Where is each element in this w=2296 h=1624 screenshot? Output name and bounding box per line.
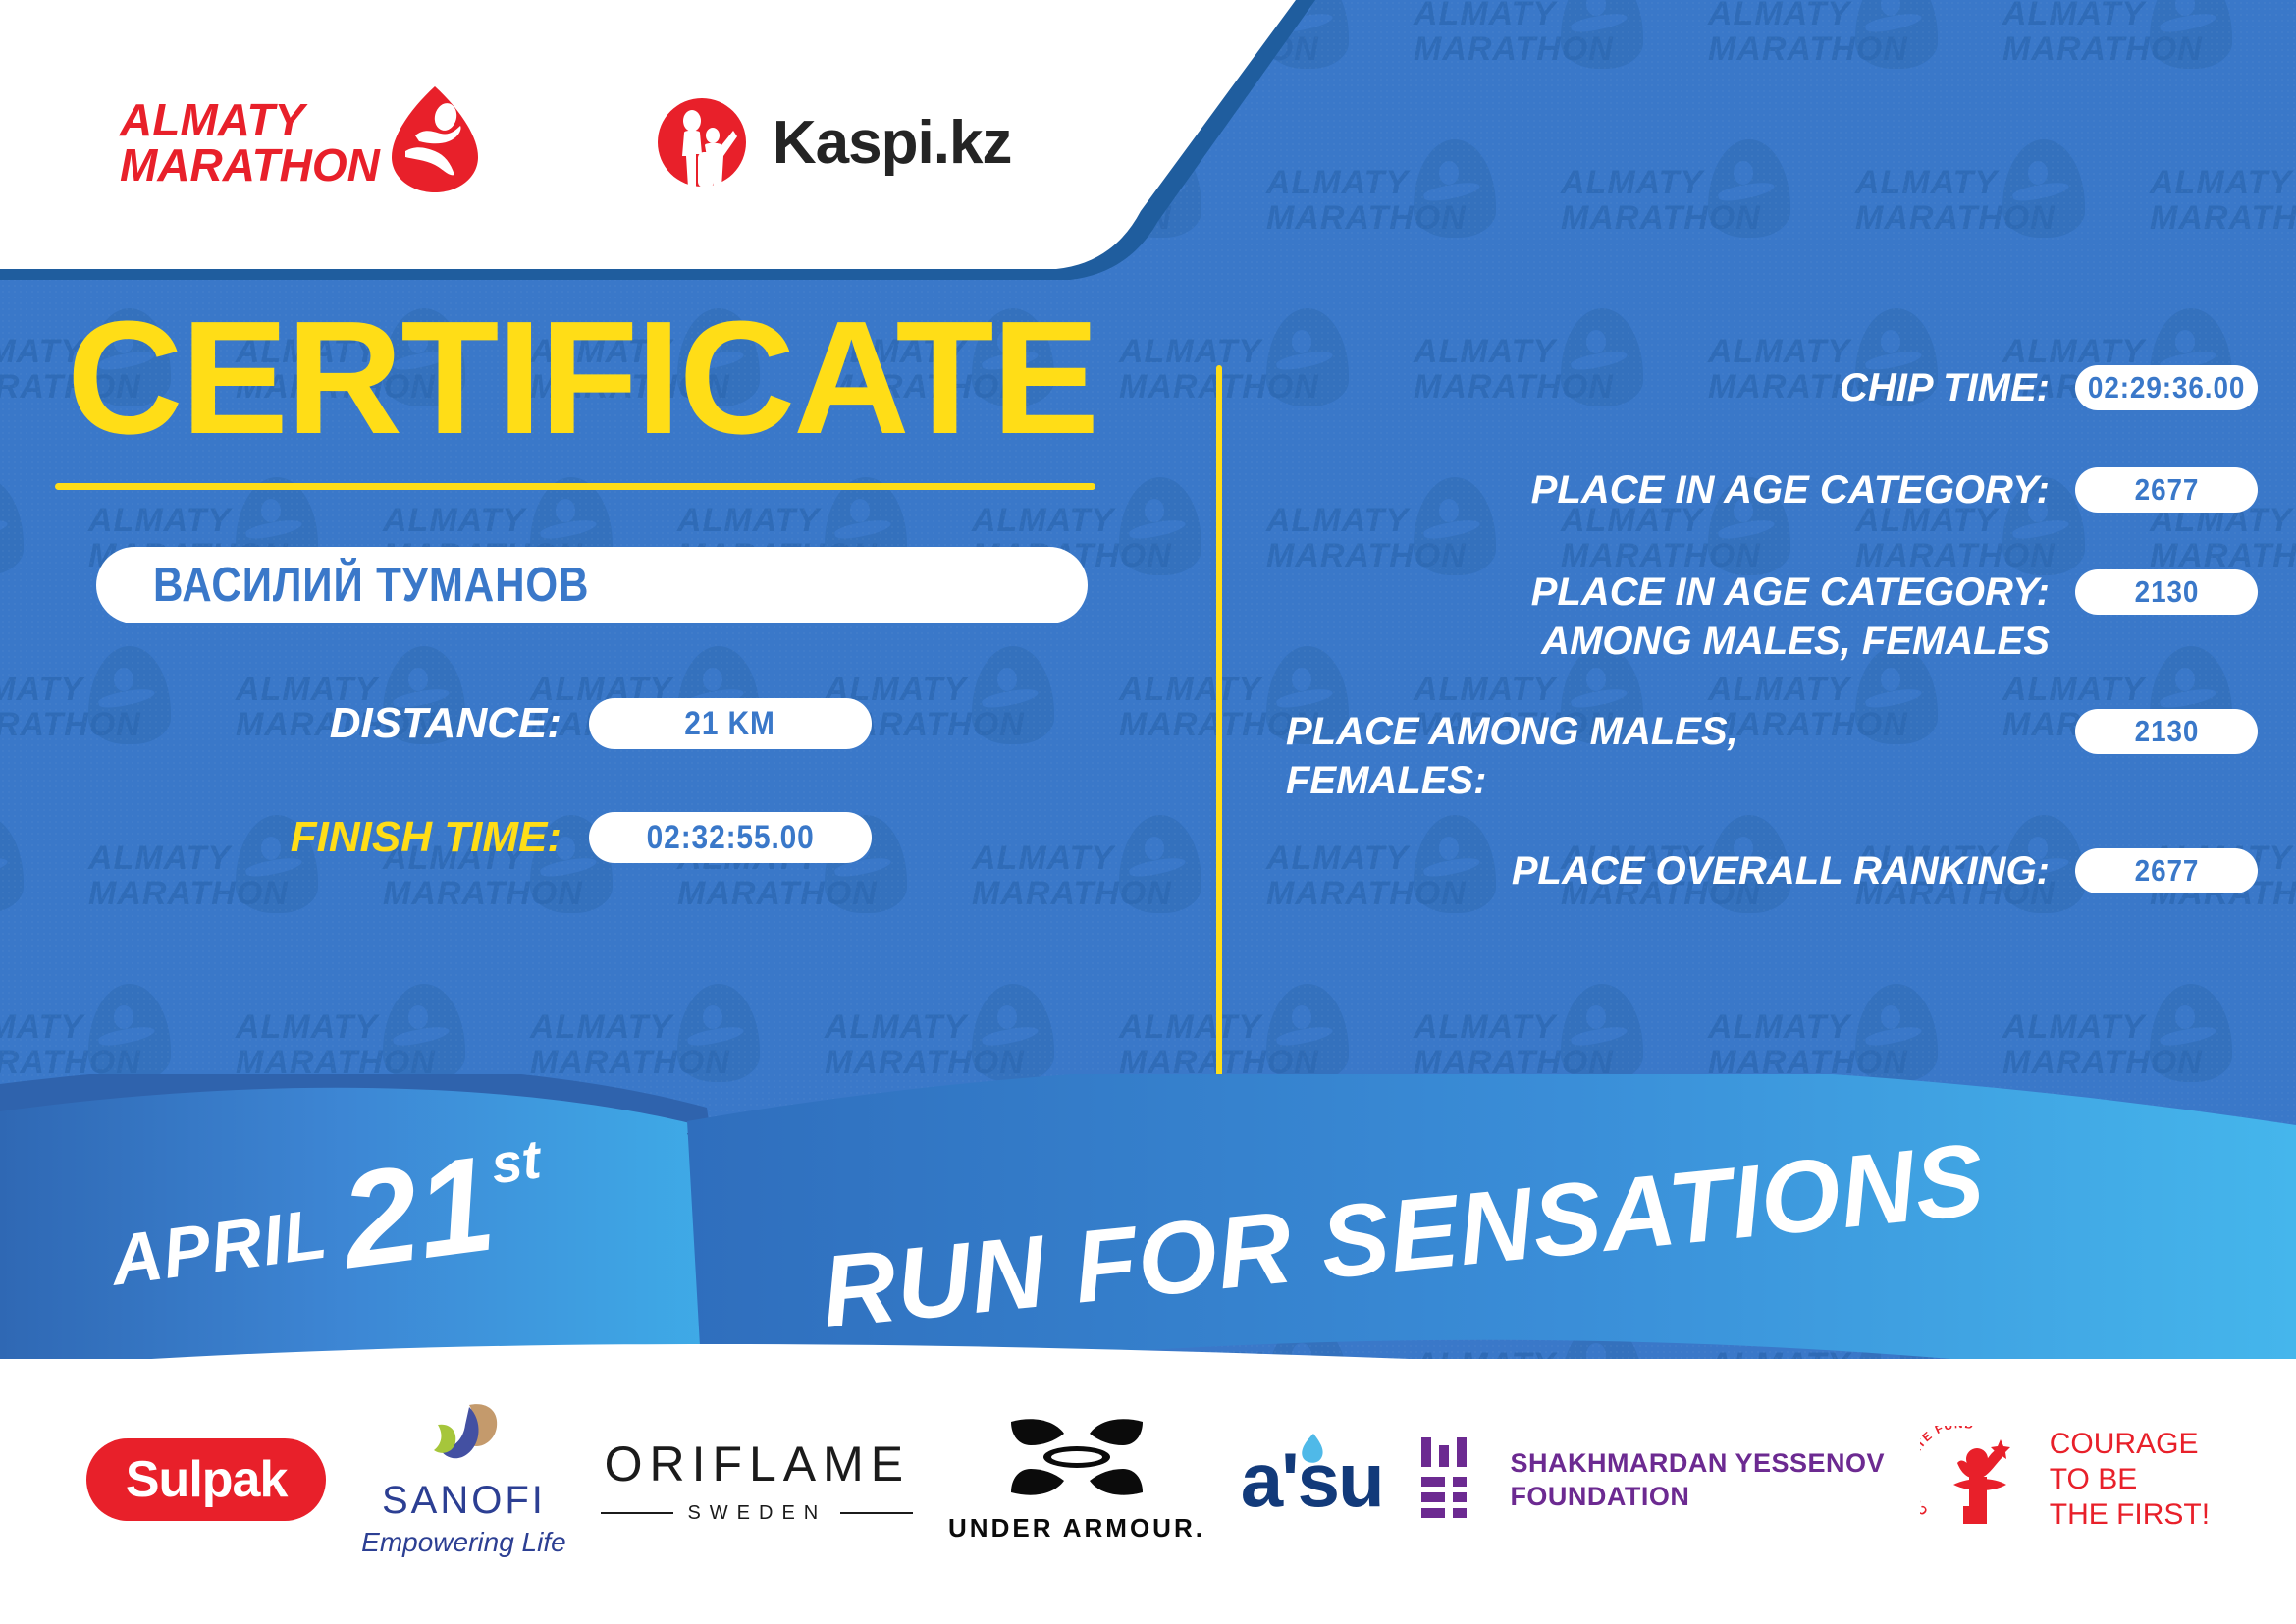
watermark-drop-icon — [2002, 139, 2085, 238]
almaty-marathon-logo: ALMATY MARATHON — [120, 84, 480, 200]
watermark-text: ALMATY MARATHON — [236, 1009, 436, 1080]
watermark-text: ALMATY MARATHON — [2002, 1009, 2203, 1080]
watermark-tile: ALMATY MARATHON — [2150, 130, 2296, 287]
row-chip-time: CHIP TIME: 02:29:36.00 — [1266, 363, 2258, 424]
sponsor-oriflame: ORIFLAME SWEDEN — [601, 1435, 913, 1525]
ribbon-day-suffix: st — [487, 1126, 544, 1196]
row-distance: DISTANCE: 21 KM — [0, 686, 1217, 761]
place-age-category-label: PLACE IN AGE CATEGORY: — [1266, 465, 2075, 514]
watermark-drop-icon — [1855, 0, 1938, 69]
yessenov-wordmark: SHAKHMARDAN YESSENOV FOUNDATION — [1510, 1446, 1885, 1513]
finish-time-label: FINISH TIME: — [0, 813, 589, 862]
under-armour-wordmark: UNDER ARMOUR. — [948, 1513, 1205, 1543]
yessenov-bars-icon — [1417, 1437, 1486, 1522]
distance-value: 21 KM — [685, 705, 776, 743]
kaspi-wordmark: Kaspi.kz — [773, 108, 1012, 178]
watermark-text: ALMATY MARATHON — [1414, 1009, 1614, 1080]
row-place-age-category: PLACE IN AGE CATEGORY: 2677 — [1266, 465, 2258, 526]
sponsor-bar: Sulpak SANOFI Empowering Life ORIFLAME S… — [0, 1359, 2296, 1624]
oriflame-rule-right — [840, 1512, 913, 1514]
watermark-drop-icon — [1561, 0, 1643, 69]
sponsor-sanofi: SANOFI Empowering Life — [361, 1401, 566, 1558]
oriflame-sub: SWEDEN — [687, 1502, 827, 1525]
sulpak-logo: Sulpak — [86, 1438, 327, 1521]
distance-label: DISTANCE: — [0, 699, 589, 748]
watermark-text: ALMATY MARATHON — [0, 1009, 141, 1080]
watermark-text: ALMATY MARATHON — [1708, 1009, 1908, 1080]
watermark-tile: ALMATY MARATHON — [1708, 0, 2002, 118]
watermark-drop-icon — [677, 984, 760, 1082]
page-title: CERTIFICATE — [67, 295, 1217, 461]
sponsor-asu: a'su — [1241, 1435, 1383, 1525]
sponsor-under-armour: UNDER ARMOUR. — [948, 1416, 1205, 1543]
watermark-text: ALMATY MARATHON — [1414, 0, 1614, 67]
watermark-drop-icon — [972, 984, 1054, 1082]
place-among-gender-value-pill: 2130 — [2075, 709, 2258, 754]
runner-drop-icon — [390, 84, 480, 194]
place-age-category-value-pill: 2677 — [2075, 467, 2258, 513]
watermark-tile: ALMATY MARATHON — [1414, 0, 1708, 118]
courage-wordmark: COURAGE TO BE THE FIRST! — [2050, 1427, 2210, 1533]
watermark-text: ALMATY MARATHON — [1708, 0, 1908, 67]
watermark-text: ALMATY MARATHON — [530, 1009, 730, 1080]
almaty-line2: MARATHON — [120, 139, 380, 190]
asu-droplet-icon — [1298, 1432, 1327, 1465]
place-among-gender-label: PLACE AMONG MALES, FEMALES: — [1266, 707, 2075, 805]
place-overall-label: PLACE OVERALL RANKING: — [1266, 846, 2075, 895]
ribbon-month: APRIL — [106, 1194, 332, 1302]
almaty-marathon-wordmark: ALMATY MARATHON — [120, 97, 380, 188]
vertical-divider — [1216, 365, 1222, 1100]
watermark-drop-icon — [1561, 984, 1643, 1082]
sanofi-tagline: Empowering Life — [361, 1527, 566, 1558]
place-age-category-gender-value: 2130 — [2134, 574, 2199, 610]
participant-name-field: ВАСИЛИЙ ТУМАНОВ — [96, 547, 1088, 623]
watermark-drop-icon — [1266, 984, 1349, 1082]
watermark-drop-icon — [2150, 0, 2232, 69]
participant-name: ВАСИЛИЙ ТУМАНОВ — [153, 558, 589, 613]
watermark-drop-icon — [1855, 984, 1938, 1082]
oriflame-sub-row: SWEDEN — [601, 1502, 913, 1525]
place-overall-value: 2677 — [2134, 853, 2199, 889]
watermark-drop-icon — [2150, 984, 2232, 1082]
row-place-age-category-gender: PLACE IN AGE CATEGORY: AMONG MALES, FEMA… — [1266, 568, 2258, 666]
courage-runner-icon: CORPORATE FUND — [1920, 1426, 2036, 1534]
place-overall-value-pill: 2677 — [2075, 848, 2258, 893]
row-place-overall: PLACE OVERALL RANKING: 2677 — [1266, 846, 2258, 907]
sanofi-mark-icon — [418, 1401, 508, 1470]
chip-time-value-pill: 02:29:36.00 — [2075, 365, 2258, 410]
place-age-category-gender-label: PLACE IN AGE CATEGORY: AMONG MALES, FEMA… — [1266, 568, 2075, 666]
oriflame-rule-left — [601, 1512, 673, 1514]
kaspi-logo: Kaspi.kz — [657, 97, 1012, 188]
row-finish-time: FINISH TIME: 02:32:55.00 — [0, 800, 1217, 875]
certificate-canvas: ALMATY MARATHONALMATY MARATHONALMATY MAR… — [0, 0, 2296, 1624]
place-among-gender-value: 2130 — [2134, 714, 2199, 749]
sponsor-yessenov-foundation: SHAKHMARDAN YESSENOV FOUNDATION — [1417, 1437, 1885, 1522]
almaty-line1: ALMATY — [120, 94, 304, 145]
sponsor-courage-fund: CORPORATE FUND COURAGE TO BE THE FIRST! — [1920, 1426, 2210, 1534]
place-age-category-value: 2677 — [2134, 472, 2199, 508]
title-underline — [55, 483, 1095, 490]
sponsor-sulpak: Sulpak — [86, 1438, 327, 1521]
sanofi-wordmark: SANOFI — [361, 1479, 566, 1523]
finish-time-value: 02:32:55.00 — [646, 819, 814, 857]
watermark-tile: ALMATY MARATHON — [2002, 0, 2296, 118]
watermark-text: ALMATY MARATHON — [1561, 165, 1761, 236]
watermark-drop-icon — [383, 984, 465, 1082]
left-stat-rows: DISTANCE: 21 KM FINISH TIME: 02:32:55.00 — [0, 686, 1217, 875]
watermark-tile: ALMATY MARATHON — [1561, 130, 1855, 287]
distance-value-pill: 21 KM — [589, 698, 872, 749]
oriflame-wordmark: ORIFLAME — [601, 1435, 913, 1492]
left-column: CERTIFICATE ВАСИЛИЙ ТУМАНОВ DISTANCE: 21… — [0, 295, 1217, 914]
place-age-category-gender-value-pill: 2130 — [2075, 569, 2258, 615]
watermark-tile: ALMATY MARATHON — [1855, 130, 2150, 287]
watermark-text: ALMATY MARATHON — [1855, 165, 2056, 236]
watermark-text: ALMATY MARATHON — [825, 1009, 1025, 1080]
right-column: CHIP TIME: 02:29:36.00 PLACE IN AGE CATE… — [1266, 363, 2258, 948]
watermark-text: ALMATY MARATHON — [2150, 165, 2296, 236]
watermark-drop-icon — [1708, 139, 1790, 238]
chip-time-value: 02:29:36.00 — [2088, 370, 2245, 406]
under-armour-icon — [1003, 1416, 1150, 1500]
row-place-among-gender: PLACE AMONG MALES, FEMALES: 2130 — [1266, 707, 2258, 805]
watermark-drop-icon — [88, 984, 171, 1082]
kaspi-people-icon — [657, 97, 747, 188]
ribbon-day: 21 — [336, 1144, 501, 1280]
watermark-text: ALMATY MARATHON — [2002, 0, 2203, 67]
watermark-drop-icon — [1414, 139, 1496, 238]
chip-time-label: CHIP TIME: — [1266, 363, 2075, 412]
header-logos: ALMATY MARATHON Kaspi.kz — [0, 0, 1178, 285]
finish-time-value-pill: 02:32:55.00 — [589, 812, 872, 863]
